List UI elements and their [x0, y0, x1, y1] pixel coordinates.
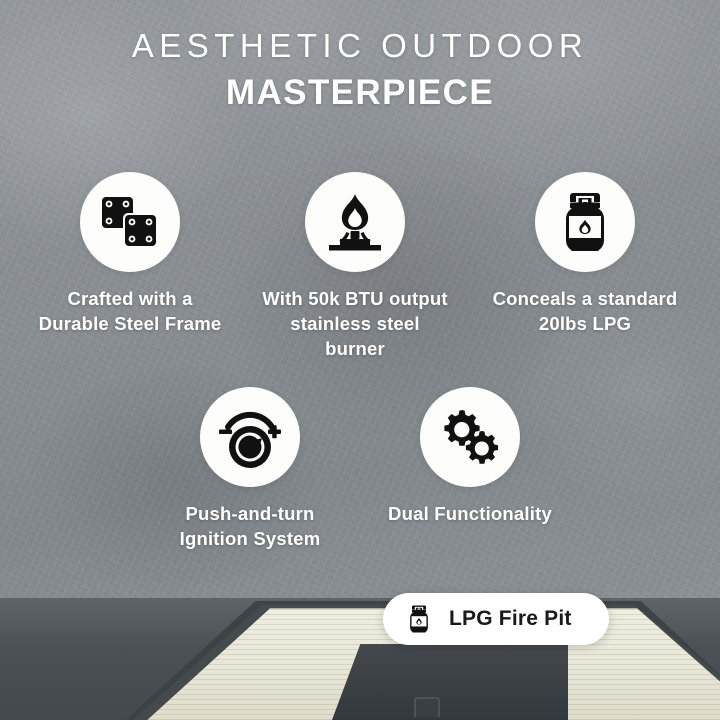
flame-burner-icon [323, 190, 387, 254]
feature-icon-bubble [420, 387, 520, 487]
fire-pit-handle [414, 697, 440, 717]
page-title: AESTHETIC OUTDOOR MASTERPIECE [0, 26, 720, 114]
feature-icon-bubble [305, 172, 405, 272]
title-line-1: AESTHETIC OUTDOOR [0, 26, 720, 66]
product-feature-poster: AESTHETIC OUTDOOR MASTERPIECE [0, 0, 720, 720]
feature-conceals-lpg-tank: Conceals a standard 20lbs LPG [490, 172, 680, 337]
steel-plates-icon [99, 191, 161, 253]
product-badge-label: LPG Fire Pit [449, 607, 572, 631]
feature-durable-steel-frame: Crafted with a Durable Steel Frame [35, 172, 225, 337]
control-knob-icon [216, 405, 284, 469]
lpg-tank-icon [405, 602, 433, 636]
feature-caption: Crafted with a Durable Steel Frame [35, 287, 225, 337]
fire-pit-lid [332, 644, 568, 720]
feature-icon-bubble [200, 387, 300, 487]
feature-push-and-turn-ignition: Push-and-turn Ignition System [155, 387, 345, 552]
gears-icon [437, 406, 503, 468]
title-line-2: MASTERPIECE [0, 73, 720, 113]
feature-icon-bubble [535, 172, 635, 272]
feature-caption: Dual Functionality [375, 502, 565, 527]
feature-caption: Conceals a standard 20lbs LPG [490, 287, 680, 337]
feature-caption: Push-and-turn Ignition System [155, 502, 345, 552]
lpg-tank-icon [555, 190, 615, 254]
feature-stainless-burner: With 50k BTU output stainless steel burn… [260, 172, 450, 361]
feature-dual-functionality: Dual Functionality [375, 387, 565, 527]
feature-icon-bubble [80, 172, 180, 272]
product-badge[interactable]: LPG Fire Pit [383, 593, 609, 645]
feature-caption: With 50k BTU output stainless steel burn… [260, 287, 450, 361]
